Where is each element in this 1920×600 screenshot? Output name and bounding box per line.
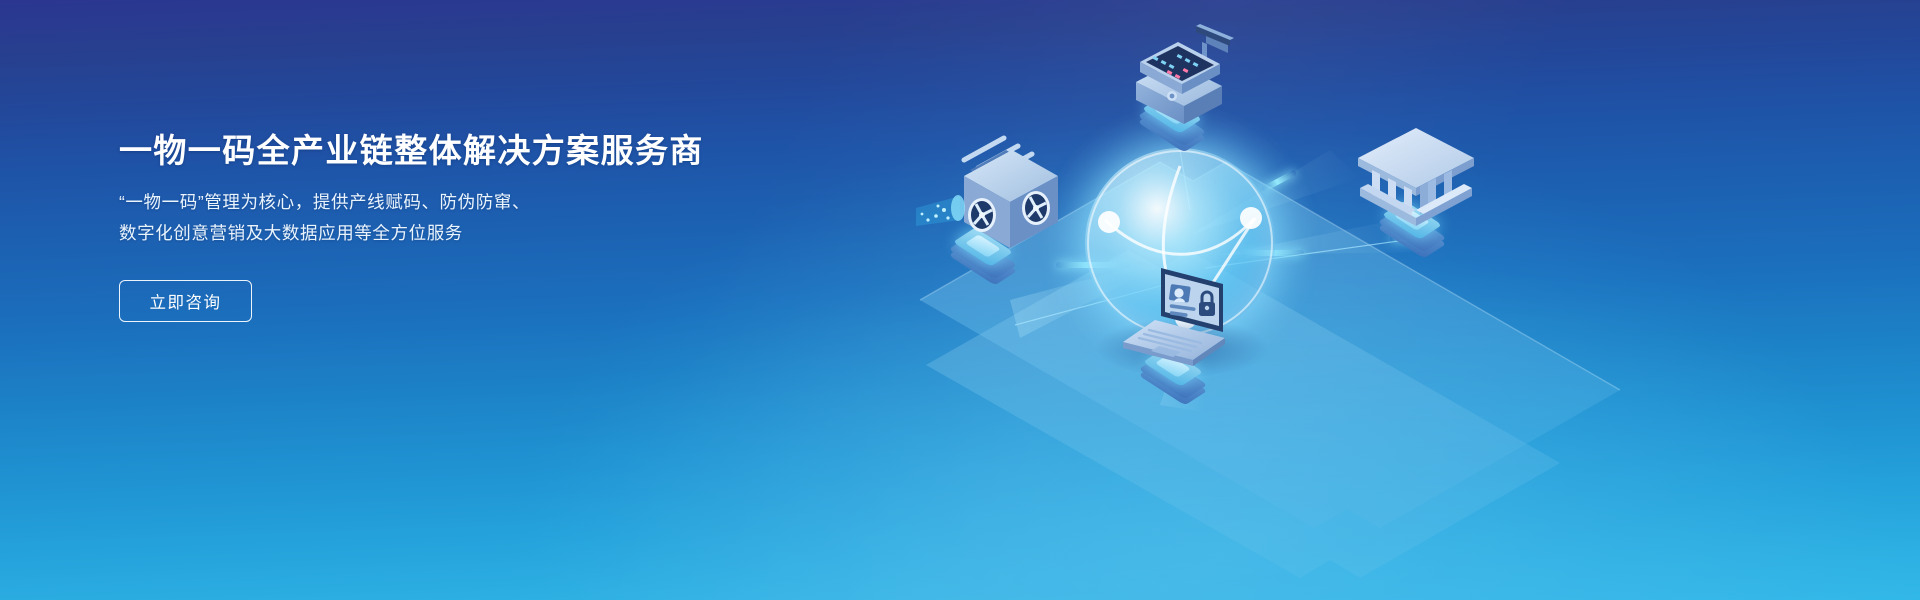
hero-copy: 一物一码全产业链整体解决方案服务商 “一物一码”管理为核心，提供产线赋码、防伪防… <box>119 130 739 322</box>
pos-terminal-icon <box>1110 20 1260 140</box>
consult-now-button[interactable]: 立即咨询 <box>119 280 252 322</box>
laptop-security-icon <box>1115 262 1265 372</box>
subtitle-line-2: 数字化创意营销及大数据应用等全方位服务 <box>119 218 739 249</box>
hero-illustration <box>860 0 1920 600</box>
subtitle-line-1: “一物一码”管理为核心，提供产线赋码、防伪防窜、 <box>119 187 739 218</box>
isometric-platform <box>860 0 1920 600</box>
page-title: 一物一码全产业链整体解决方案服务商 <box>119 130 739 171</box>
hero-banner: 一物一码全产业链整体解决方案服务商 “一物一码”管理为核心，提供产线赋码、防伪防… <box>0 0 1920 600</box>
server-rack-icon <box>900 130 1100 270</box>
bank-building-icon <box>1338 118 1498 238</box>
